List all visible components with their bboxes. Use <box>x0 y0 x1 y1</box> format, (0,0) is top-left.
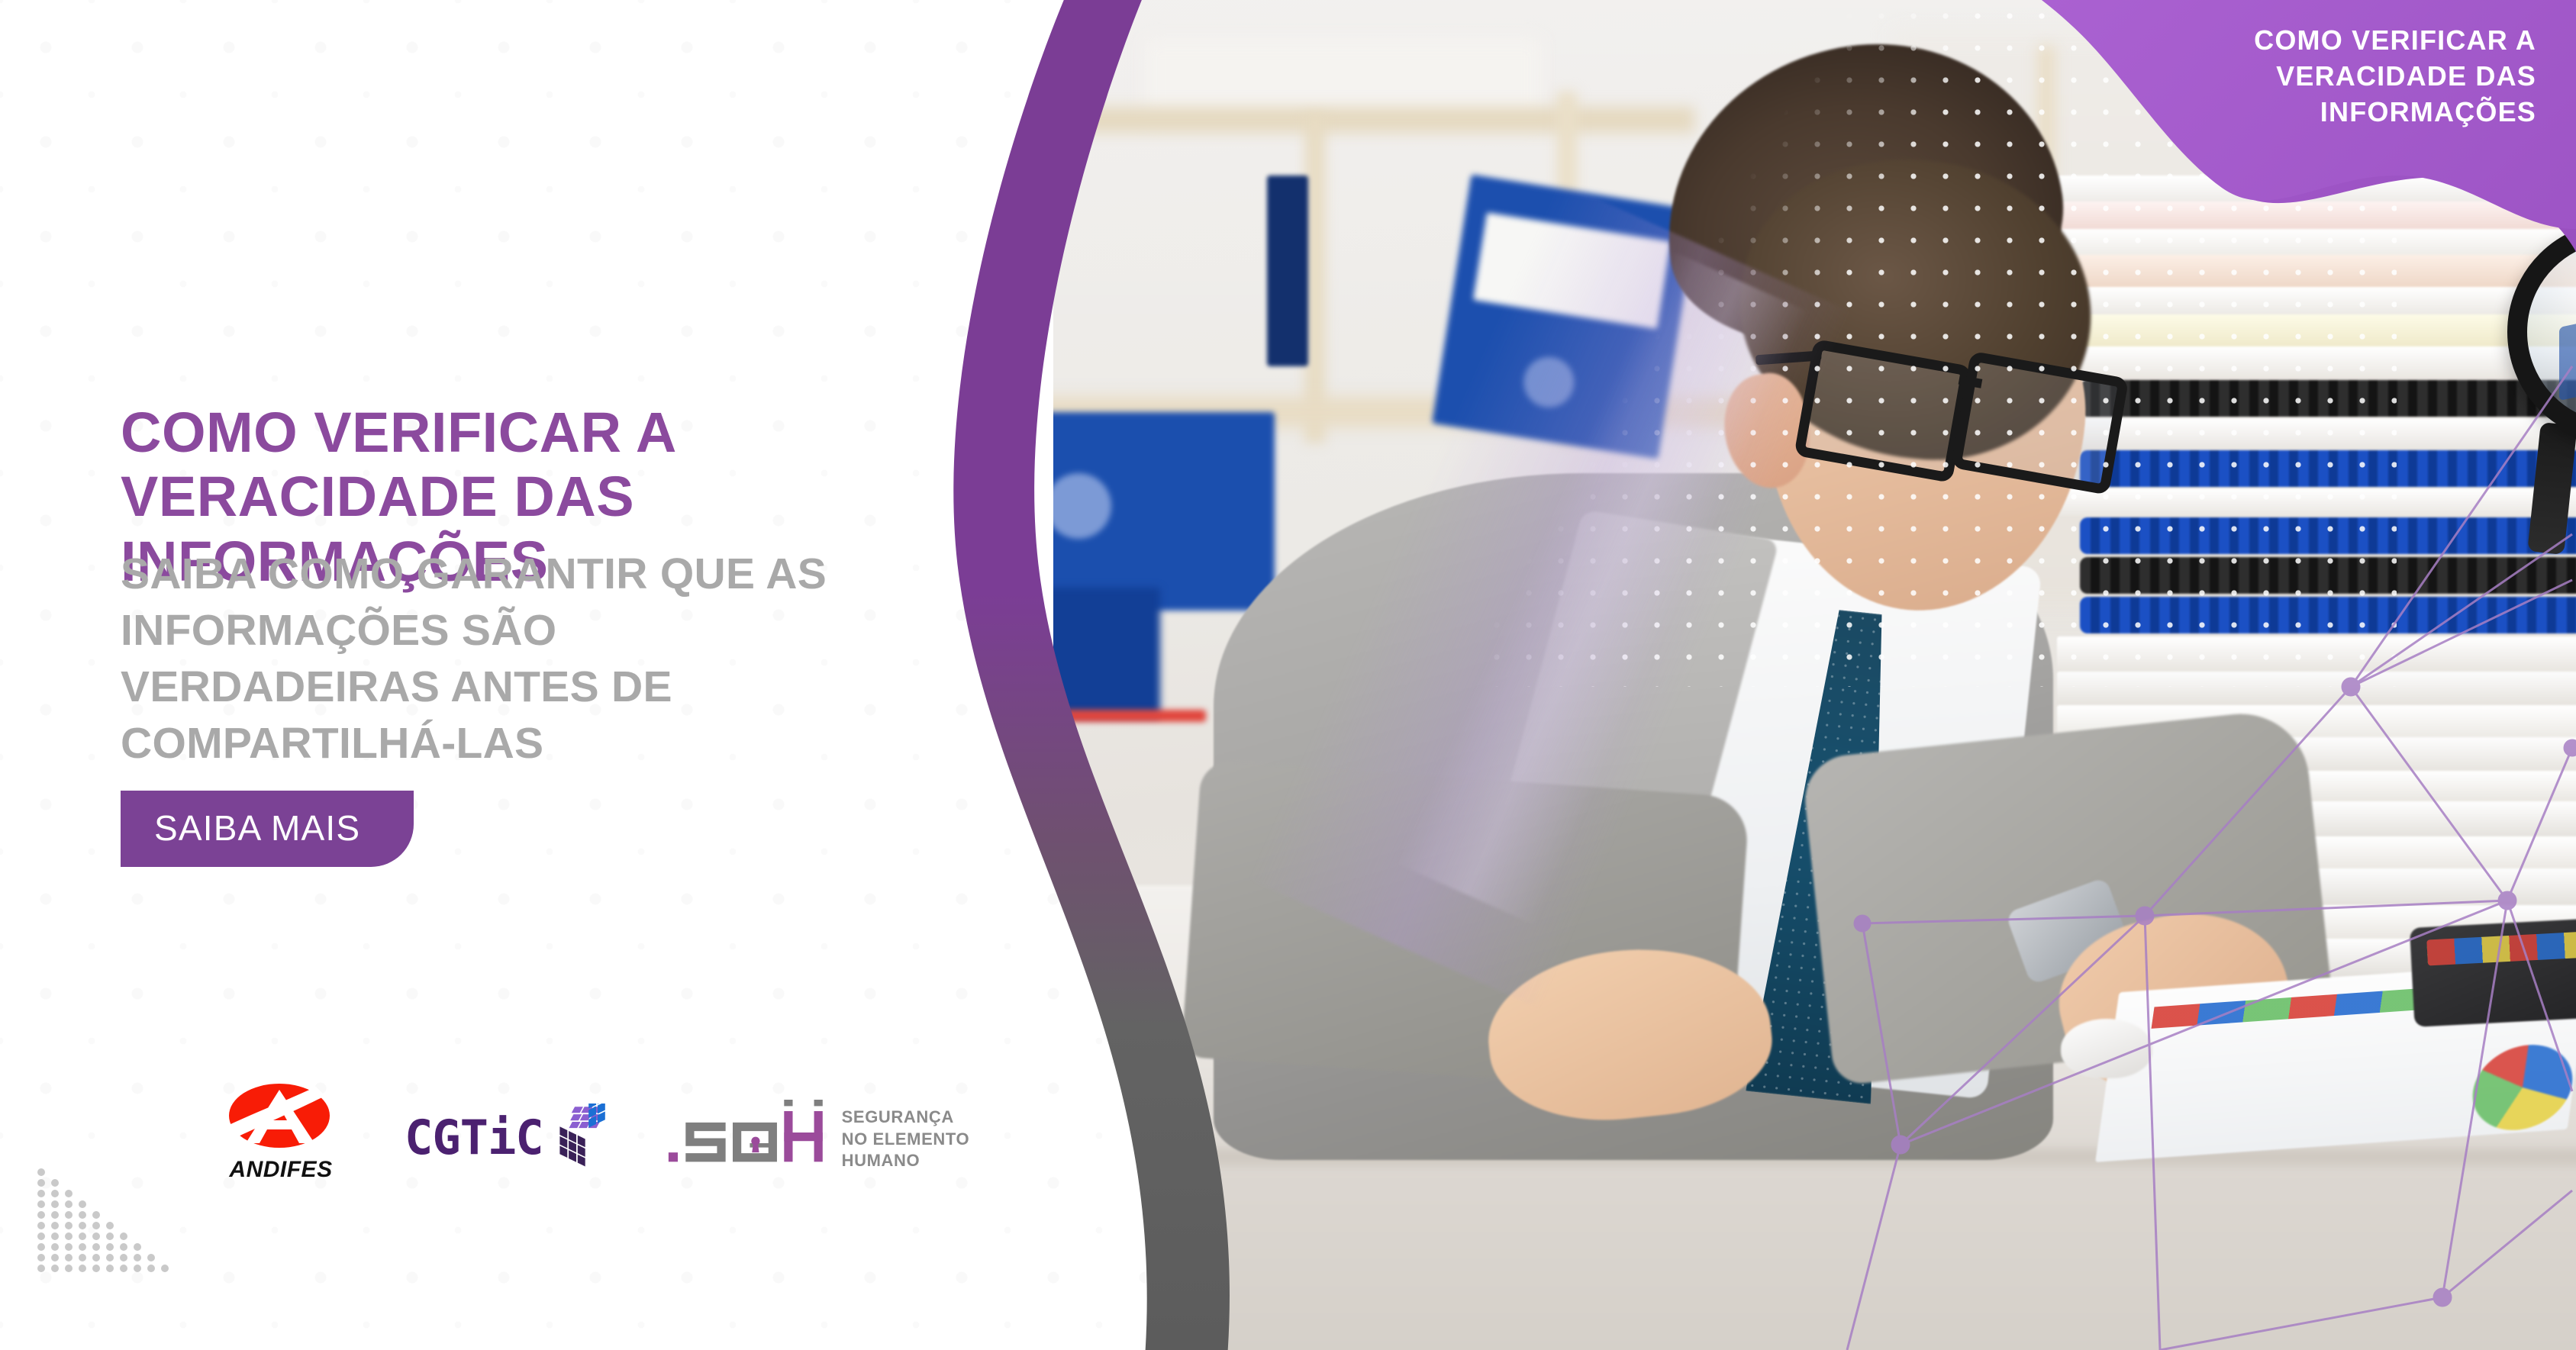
logo-andifes[interactable]: ANDIFES <box>214 1082 348 1180</box>
dot-triangle-decoration <box>34 1166 171 1277</box>
corner-badge: COMO VERIFICAR A VERACIDADE DAS INFORMAÇ… <box>2042 0 2576 252</box>
andifes-mark-icon <box>224 1082 337 1152</box>
andifes-wordmark: ANDIFES <box>214 1157 348 1183</box>
saiba-mais-button[interactable]: SAIBA MAIS <box>121 791 414 867</box>
cgtic-wordmark: CGTiC <box>405 1110 543 1165</box>
seh-tagline: SEGURANÇA NO ELEMENTO HUMANO <box>842 1096 970 1172</box>
logo-row: ANDIFES CGTiC <box>214 1082 969 1180</box>
promo-banner: COMO VERIFICAR A VERACIDADE DAS INFORMAÇ… <box>0 0 2576 1350</box>
logo-cgtic[interactable]: CGTiC <box>405 1094 611 1180</box>
logo-seh[interactable]: SEGURANÇA NO ELEMENTO HUMANO <box>667 1088 970 1180</box>
subtitle: SAIBA COMO GARANTIR QUE AS INFORMAÇÕES S… <box>121 546 869 772</box>
badge-label: COMO VERIFICAR A VERACIDADE DAS INFORMAÇ… <box>2109 23 2536 130</box>
seh-wordmark-icon <box>667 1096 831 1173</box>
cube-icon <box>556 1104 611 1171</box>
